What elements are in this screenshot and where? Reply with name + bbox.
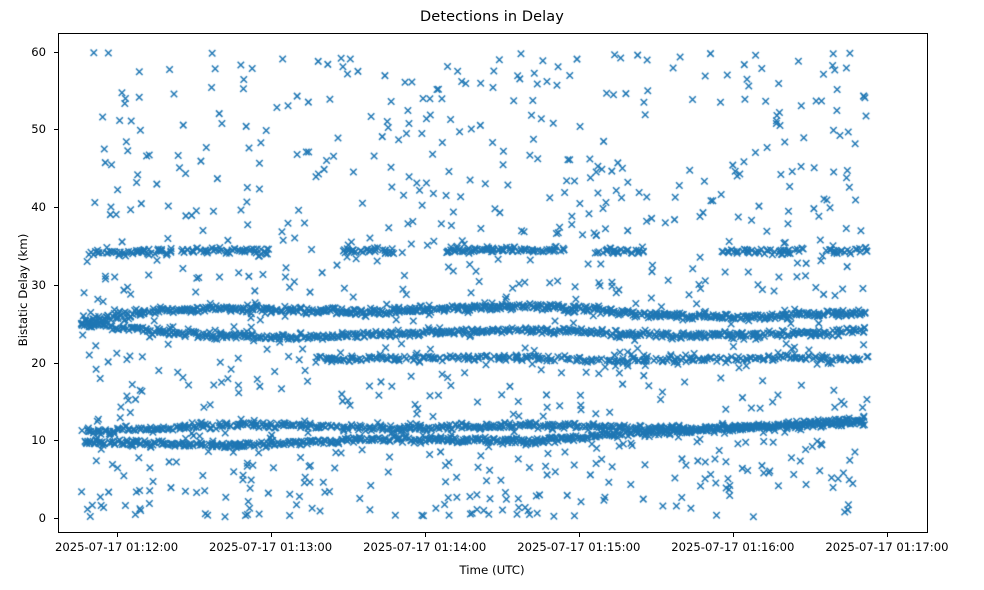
plot-axes (58, 33, 928, 533)
x-tick-label: 2025-07-17 01:16:00 (671, 540, 794, 554)
x-tick-mark (579, 533, 580, 537)
matplotlib-figure: Detections in Delay Time (UTC) Bistatic … (0, 0, 984, 590)
y-tick-label: 40 (0, 200, 46, 214)
y-tick-mark (54, 440, 58, 441)
y-tick-label: 0 (0, 511, 46, 525)
y-tick-label: 10 (0, 433, 46, 447)
y-tick-label: 30 (0, 278, 46, 292)
x-tick-mark (271, 533, 272, 537)
x-tick-label: 2025-07-17 01:14:00 (363, 540, 486, 554)
y-tick-mark (54, 52, 58, 53)
x-tick-mark (887, 533, 888, 537)
page-title: Detections in Delay (0, 9, 984, 25)
y-tick-mark (54, 285, 58, 286)
y-tick-mark (54, 363, 58, 364)
x-axis-label: Time (UTC) (0, 563, 984, 577)
y-tick-mark (54, 207, 58, 208)
y-tick-mark (54, 518, 58, 519)
x-tick-label: 2025-07-17 01:15:00 (517, 540, 640, 554)
x-tick-mark (117, 533, 118, 537)
x-tick-mark (425, 533, 426, 537)
y-tick-label: 20 (0, 356, 46, 370)
y-tick-label: 60 (0, 45, 46, 59)
x-tick-label: 2025-07-17 01:12:00 (55, 540, 178, 554)
y-tick-label: 50 (0, 122, 46, 136)
x-tick-mark (733, 533, 734, 537)
scatter-plot-canvas (59, 34, 928, 533)
x-tick-label: 2025-07-17 01:13:00 (209, 540, 332, 554)
x-tick-label: 2025-07-17 01:17:00 (825, 540, 948, 554)
y-tick-mark (54, 129, 58, 130)
